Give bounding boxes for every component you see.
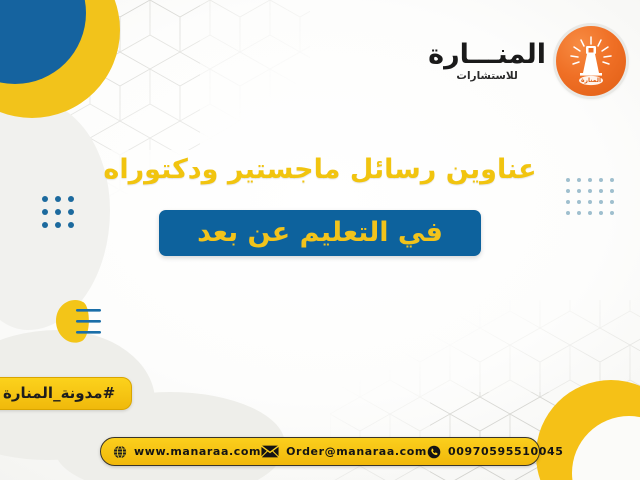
brand-logo: المنارة المنـــارة للاستشارات [428, 26, 626, 96]
subtitle-banner-text: في التعليم عن بعد [197, 219, 443, 246]
brand-wordmark: المنـــارة للاستشارات [428, 41, 546, 82]
lighthouse-icon: المنارة [556, 26, 626, 96]
corner-ornament-bottom-right [536, 380, 640, 480]
contact-email-text: Order@manaraa.com [286, 445, 427, 458]
contact-website[interactable]: www.manaraa.com [113, 445, 261, 459]
promo-card: المنارة المنـــارة للاستشارات عناوين رسا… [0, 0, 640, 480]
contact-phone[interactable]: 00970595510045 [427, 445, 564, 459]
subtitle-banner: في التعليم عن بعد [159, 210, 481, 256]
contact-email[interactable]: Order@manaraa.com [261, 445, 427, 458]
leaf-lines-icon [50, 296, 106, 346]
contact-bar: www.manaraa.com Order@manaraa.com 009705… [100, 437, 540, 466]
corner-ornament-top-left [0, 0, 120, 118]
brand-tagline: للاستشارات [428, 71, 546, 82]
page-title: عناوين رسائل ماجستير ودكتوراه [0, 154, 640, 185]
brand-name: المنـــارة [428, 41, 546, 68]
dot-grid-left [42, 196, 74, 228]
svg-text:المنارة: المنارة [581, 77, 601, 84]
contact-website-text: www.manaraa.com [134, 445, 261, 458]
contact-phone-text: 00970595510045 [448, 445, 564, 458]
globe-icon [113, 445, 127, 459]
envelope-icon [261, 445, 279, 458]
phone-icon [427, 445, 441, 459]
hashtag-badge: #مدونة_المنارة [0, 377, 132, 410]
